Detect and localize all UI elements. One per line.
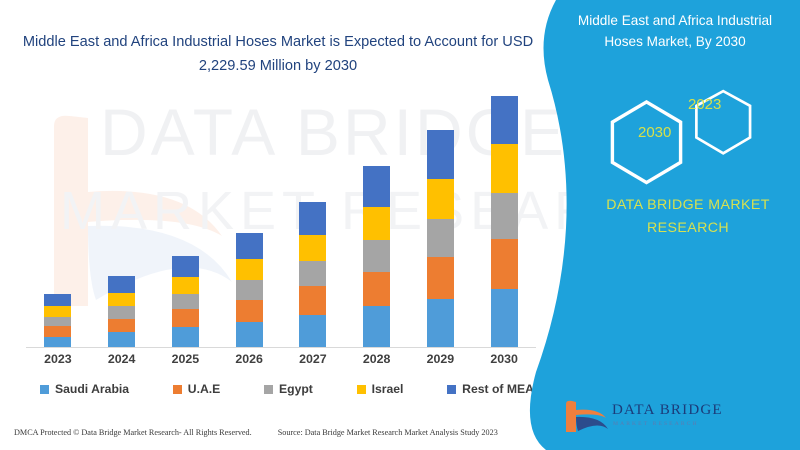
legend-swatch-icon xyxy=(173,385,182,394)
stacked-bar xyxy=(236,233,263,347)
bar-segment xyxy=(172,256,199,277)
bar-segment xyxy=(427,130,454,179)
panel-heading-line-1: Middle East and Africa Industrial xyxy=(556,10,794,31)
bar-segment xyxy=(44,317,71,326)
bar-segment xyxy=(491,289,518,347)
bar-segment xyxy=(299,286,326,314)
bar-segment xyxy=(108,332,135,347)
bar-segment xyxy=(44,326,71,336)
bar-column xyxy=(410,96,470,347)
legend-label: U.A.E xyxy=(188,382,221,396)
x-axis-tick-label: 2030 xyxy=(474,352,534,366)
bar-segment xyxy=(299,235,326,261)
legend-item[interactable]: U.A.E xyxy=(173,382,221,396)
stacked-bar xyxy=(172,256,199,347)
stacked-bar xyxy=(299,202,326,347)
bar-segment xyxy=(427,257,454,299)
bar-segment xyxy=(491,96,518,144)
legend-swatch-icon xyxy=(357,385,366,394)
bar-segment xyxy=(44,337,71,347)
bar-column xyxy=(347,96,407,347)
bar-segment xyxy=(108,319,135,333)
legend-item[interactable]: Saudi Arabia xyxy=(40,382,129,396)
legend-swatch-icon xyxy=(40,385,49,394)
bar-segment xyxy=(172,294,199,310)
bar-segment xyxy=(427,219,454,257)
hexagon-2030 xyxy=(612,102,680,183)
bar-segment xyxy=(363,306,390,347)
bar-segment xyxy=(491,193,518,239)
stacked-bar xyxy=(491,96,518,347)
legend-label: Israel xyxy=(372,382,404,396)
legend-swatch-icon xyxy=(264,385,273,394)
x-axis-tick-label: 2023 xyxy=(28,352,88,366)
bar-segment xyxy=(236,300,263,322)
bar-segment xyxy=(172,327,199,347)
bar-segment xyxy=(491,144,518,193)
bar-segment xyxy=(427,179,454,220)
bar-column xyxy=(219,96,279,347)
x-axis-tick-label: 2024 xyxy=(92,352,152,366)
infographic-canvas: DATA BRIDGE MARKET RESEARCH Middle East … xyxy=(0,0,800,450)
page-title: Middle East and Africa Industrial Hoses … xyxy=(18,30,538,78)
chart-legend: Saudi ArabiaU.A.EEgyptIsraelRest of MEA xyxy=(40,382,540,396)
bar-segment xyxy=(363,240,390,271)
bar-segment xyxy=(236,322,263,347)
x-axis-tick-label: 2028 xyxy=(347,352,407,366)
stacked-bar xyxy=(44,294,71,347)
bar-column xyxy=(28,96,88,347)
bar-segment xyxy=(491,239,518,289)
legend-item[interactable]: Rest of MEA xyxy=(447,382,534,396)
hexagon-2030-label: 2030 xyxy=(638,124,671,141)
legend-label: Rest of MEA xyxy=(462,382,534,396)
bar-segment xyxy=(44,306,71,316)
stacked-bar xyxy=(363,166,390,347)
page-title-line-1: Middle East and Africa Industrial Hoses … xyxy=(23,34,498,50)
x-axis-tick-label: 2026 xyxy=(219,352,279,366)
bar-column xyxy=(155,96,215,347)
legend-label: Egypt xyxy=(279,382,313,396)
brand-line-1: DATA BRIDGE MARKET xyxy=(578,194,798,217)
stacked-bar xyxy=(108,276,135,347)
bar-segment xyxy=(363,272,390,307)
bar-segment xyxy=(427,299,454,347)
panel-heading: Middle East and Africa Industrial Hoses … xyxy=(556,10,794,52)
bar-segment xyxy=(172,277,199,294)
bar-column xyxy=(474,96,534,347)
data-bridge-logo: DATA BRIDGE MARKET RESEARCH xyxy=(560,398,760,440)
bar-segment xyxy=(108,306,135,319)
x-axis-tick-label: 2025 xyxy=(155,352,215,366)
brand-name: DATA BRIDGE MARKET RESEARCH xyxy=(578,194,798,240)
data-bridge-logo-tagline: MARKET RESEARCH xyxy=(613,421,699,427)
data-bridge-logo-mark xyxy=(560,398,610,438)
bar-segment xyxy=(363,166,390,207)
legend-label: Saudi Arabia xyxy=(55,382,129,396)
data-bridge-logo-text: DATA BRIDGE xyxy=(612,402,723,419)
legend-item[interactable]: Egypt xyxy=(264,382,313,396)
brand-line-2: RESEARCH xyxy=(578,217,798,240)
x-axis-tick-label: 2027 xyxy=(283,352,343,366)
bar-column xyxy=(92,96,152,347)
bar-segment xyxy=(299,261,326,286)
panel-heading-line-2: Hoses Market, By 2030 xyxy=(556,31,794,52)
footer: DMCA Protected © Data Bridge Market Rese… xyxy=(14,428,534,437)
legend-item[interactable]: Israel xyxy=(357,382,404,396)
bar-segment xyxy=(236,259,263,280)
bar-segment xyxy=(108,276,135,293)
x-axis-line xyxy=(26,347,536,348)
bar-segment xyxy=(363,207,390,240)
bar-segment xyxy=(44,294,71,307)
bar-segment xyxy=(172,309,199,327)
hexagon-group: 2030 2023 xyxy=(600,88,790,198)
bar-segment xyxy=(108,293,135,307)
x-axis-tick-label: 2029 xyxy=(410,352,470,366)
legend-swatch-icon xyxy=(447,385,456,394)
hexagon-2023-label: 2023 xyxy=(688,96,721,113)
stacked-bar-chart xyxy=(26,96,536,348)
bar-column xyxy=(283,96,343,347)
bar-segment xyxy=(299,202,326,235)
footer-copyright: DMCA Protected © Data Bridge Market Rese… xyxy=(14,428,252,437)
x-axis-labels: 20232024202520262027202820292030 xyxy=(26,352,536,366)
stacked-bar xyxy=(427,130,454,347)
chart-bars xyxy=(26,96,536,347)
bar-segment xyxy=(236,233,263,259)
bar-segment xyxy=(236,280,263,300)
bar-segment xyxy=(299,315,326,347)
footer-source: Source: Data Bridge Market Research Mark… xyxy=(278,428,498,437)
